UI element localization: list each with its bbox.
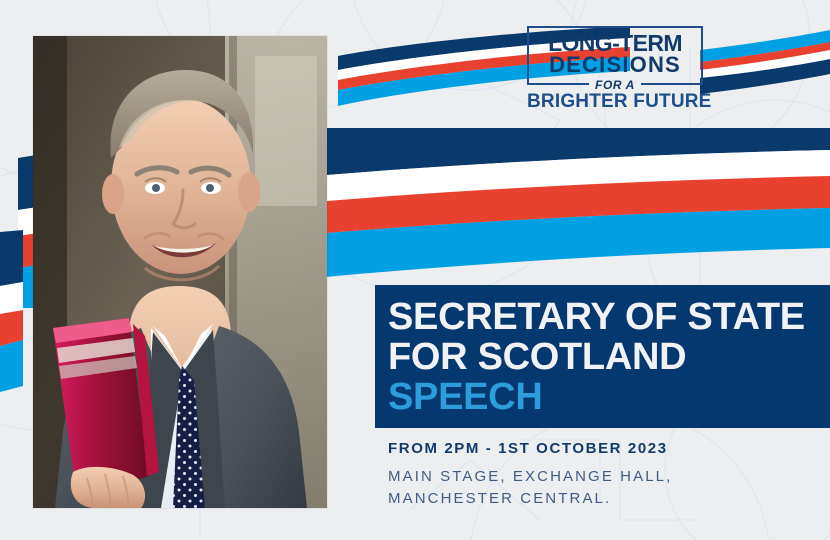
event-time-date: FROM 2PM - 1ST OCTOBER 2023	[388, 440, 672, 457]
headline: SECRETARY OF STATE FOR SCOTLAND SPEECH	[388, 297, 830, 417]
swoosh-band-left-edge	[0, 230, 26, 392]
headline-line-3-speech: SPEECH	[388, 377, 830, 417]
long-term-decisions-logo: LONG-TERM DECISIONS FOR A BRIGHTER FUTUR…	[527, 26, 703, 114]
logo-line-brighter-future: BRIGHTER FUTURE	[527, 92, 703, 111]
logo-line-for-a: FOR A	[589, 78, 641, 92]
headline-line-1: SECRETARY OF STATE	[388, 297, 830, 337]
event-venue-line-2: MANCHESTER CENTRAL.	[388, 488, 672, 510]
logo-for-a-wrapper: FOR A	[529, 78, 701, 92]
logo-line-long-term: LONG-TERM	[535, 33, 695, 54]
speaker-portrait-image	[33, 36, 327, 508]
speaker-portrait	[33, 36, 327, 508]
headline-line-2: FOR SCOTLAND	[388, 337, 830, 377]
poster-canvas: LONG-TERM DECISIONS FOR A BRIGHTER FUTUR…	[0, 0, 830, 540]
logo-box: LONG-TERM DECISIONS FOR A	[527, 26, 703, 85]
logo-line-decisions: DECISIONS	[535, 54, 695, 76]
event-venue-line-1: MAIN STAGE, EXCHANGE HALL,	[388, 466, 672, 488]
event-details: FROM 2PM - 1ST OCTOBER 2023 MAIN STAGE, …	[388, 440, 672, 510]
